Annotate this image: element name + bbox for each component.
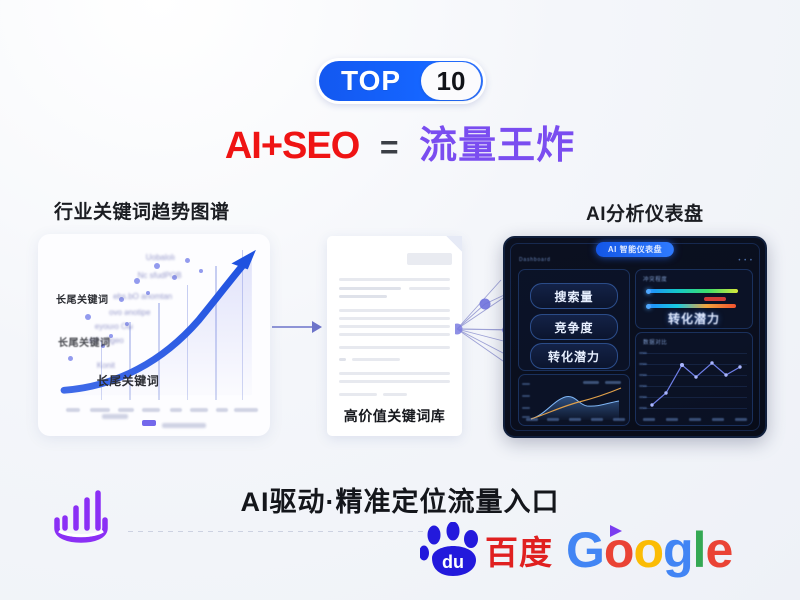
google-letter-e: e: [705, 522, 732, 578]
scatter-dot: [85, 314, 91, 320]
baidu-wordmark: 百度: [485, 536, 553, 569]
bottom-tagline: AI驱动·精准定位流量入口: [0, 480, 800, 519]
gauge-panel: 冲突程度 转化潜力: [635, 269, 753, 329]
comparison-chart-ticks: [643, 418, 747, 421]
doc-header-block: [407, 253, 452, 265]
baidu-logo: du 百度: [420, 522, 560, 584]
top10-number-circle: 10: [421, 62, 481, 100]
scatter-dot: [185, 258, 190, 263]
google-logo: Google: [566, 525, 746, 583]
gauge-overlay-label: 转化潜力: [636, 310, 752, 327]
doc-caption: 高价值关键词库: [327, 406, 462, 426]
ai-dashboard-card: AI 智能仪表盘 Dashboard • • • 搜索量 竞争度 转化潜力: [503, 236, 767, 438]
gauge-bar-secondary: [648, 304, 736, 308]
x-axis-tick: [216, 408, 228, 412]
google-letter-g1: G: [566, 522, 604, 578]
google-letter-o2: o: [633, 522, 663, 578]
headline-traffic: 流量王炸: [419, 125, 575, 167]
top10-label: TOP: [341, 67, 401, 95]
area-chart-panel: [518, 374, 630, 426]
baidu-paw-icon: du: [420, 522, 490, 584]
blur-word: Konit: [97, 361, 115, 370]
x-axis-tick: [170, 408, 182, 412]
gauge-knob: [646, 289, 651, 294]
blur-word: Nc sfudPOB: [138, 271, 182, 280]
dashboard-menu-icon[interactable]: • • •: [738, 258, 753, 264]
scatter-dot: [154, 263, 160, 269]
headline-ai-seo: AI+SEO: [225, 125, 359, 167]
flow-arrow-icon: [272, 318, 324, 336]
gauge-bar-primary: [648, 289, 738, 293]
chart-legend-swatch: [142, 420, 156, 426]
page-title: AI+SEO = 流量王炸: [0, 126, 800, 168]
x-axis-tick: [118, 408, 134, 412]
keyword-label: 长尾关键词: [56, 291, 109, 306]
blur-word: ovo ənotipe: [109, 308, 150, 317]
metric-conversion[interactable]: 转化潜力: [530, 343, 618, 369]
x-axis-tick: [190, 408, 208, 412]
x-axis-tick: [142, 408, 160, 412]
gauge-panel-title: 冲突程度: [643, 275, 667, 283]
gauge-alert-tag: [704, 297, 726, 301]
metric-competition[interactable]: 竞争度: [530, 314, 618, 340]
x-axis-caption: [102, 414, 128, 419]
connector-dashed-line: [128, 531, 428, 532]
scatter-dot: [199, 269, 203, 273]
headline-equals: =: [380, 129, 399, 165]
top10-badge: TOP 10: [316, 58, 486, 104]
gauge-knob: [646, 304, 651, 309]
trend-chart-plot: Uobalolı Nc sfudPOB ebs.bO anomtan ovo ə…: [56, 244, 260, 400]
x-axis-tick: [90, 408, 110, 412]
bar-chart-icon: [46, 484, 116, 546]
metrics-panel: 搜索量 竞争度 转化潜力: [518, 269, 630, 371]
dashboard-title-pill: AI 智能仪表盘: [596, 242, 674, 257]
chart-legend-label: [162, 423, 206, 428]
google-letter-l: l: [693, 522, 706, 578]
trend-chart-card: Uobalolı Nc sfudPOB ebs.bO anomtan ovo ə…: [38, 234, 270, 436]
google-letter-o1: o: [604, 522, 634, 578]
left-section-caption: 行业关键词趋势图谱: [54, 197, 230, 224]
top10-number: 10: [437, 68, 466, 94]
infographic-canvas: TOP 10 AI+SEO = 流量王炸 行业关键词趋势图谱 AI分析仪表盘: [0, 0, 800, 600]
x-axis-tick: [234, 408, 258, 412]
keyword-library-document: 高价值关键词库: [327, 236, 462, 436]
area-chart-ticks: [526, 418, 625, 421]
page-fold-icon: [446, 236, 462, 252]
dashboard-subtitle: Dashboard: [519, 257, 551, 263]
baidu-du-text: du: [442, 552, 464, 572]
keyword-label: 长尾关键词: [97, 372, 160, 389]
comparison-chart-panel: 数据对比: [635, 332, 753, 426]
blur-word: eyouıo Oы: [95, 322, 133, 331]
google-letter-g2: g: [663, 522, 693, 578]
keyword-label: 长尾关键词: [58, 334, 111, 349]
x-axis-tick: [66, 408, 80, 412]
right-section-caption: AI分析仪表盘: [586, 199, 704, 226]
metric-search-volume[interactable]: 搜索量: [530, 283, 618, 309]
top10-pill: TOP 10: [319, 61, 483, 101]
blur-word: ebs.bO anomtan: [113, 292, 172, 301]
comparison-line-svg: [636, 333, 752, 425]
blur-word: Uobalolı: [146, 253, 175, 262]
